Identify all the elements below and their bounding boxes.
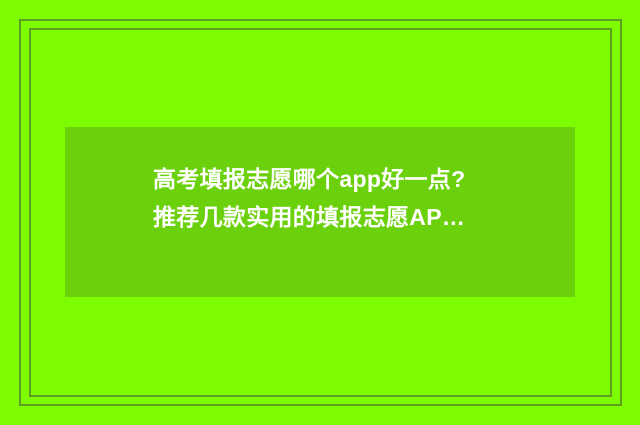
- headline-line-2: 推荐几款实用的填报志愿AP…: [153, 198, 513, 236]
- headline-text: 高考填报志愿哪个app好一点? 推荐几款实用的填报志愿AP…: [153, 160, 513, 236]
- poster-canvas: 高考填报志愿哪个app好一点? 推荐几款实用的填报志愿AP…: [0, 0, 640, 425]
- headline-line-1: 高考填报志愿哪个app好一点?: [153, 160, 513, 198]
